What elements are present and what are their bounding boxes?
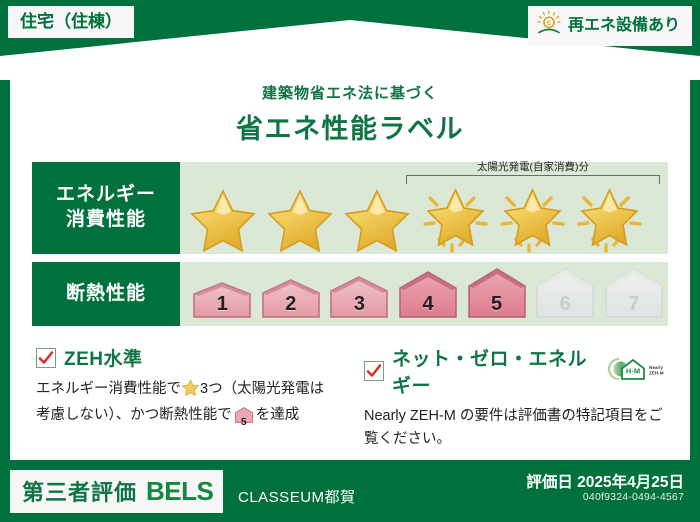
insulation-level-scale: 1 2 xyxy=(180,262,668,326)
bels-plate: 第三者評価 BELS xyxy=(10,470,223,513)
zeh-criteria-title: ZEH水準 xyxy=(64,344,143,371)
insulation-level-1: 1 xyxy=(189,281,255,319)
zeh-m-logo-text: H-M xyxy=(626,366,640,375)
net-zero-criteria-body: Nearly ZEH-M の要件は評価書の特記項目をご覧ください。 xyxy=(364,405,664,451)
zeh-checkbox[interactable] xyxy=(36,348,56,368)
third-party-eval-label: 第三者評価 xyxy=(22,475,137,507)
energy-performance-row: エネルギー 消費性能 太陽光発電(自家消費)分 xyxy=(32,162,668,254)
solar-sun-icon: E xyxy=(536,10,562,41)
nearly-zeh-m-logo-icon: H-M Nearly ZEH-M xyxy=(606,356,664,387)
certificate-id: 040f9324-0494-4567 xyxy=(583,491,684,503)
net-zero-criteria-header: ネット・ゼロ・エネルギー H- xyxy=(364,344,664,398)
insulation-level-3: 3 xyxy=(326,275,392,319)
zeh-body-end: を達成 xyxy=(256,407,300,423)
building-type-tag: 住宅（住棟） xyxy=(8,6,134,38)
title-block: 建築物省エネ法に基づく 省エネ性能ラベル xyxy=(10,82,690,146)
bels-logo-text: BELS xyxy=(146,476,213,507)
insulation-level-value: 4 xyxy=(395,293,461,316)
insulation-level-cell: 7 xyxy=(599,267,668,319)
net-zero-criteria-title: ネット・ゼロ・エネルギー xyxy=(392,344,592,398)
inline-house-badge: 5 xyxy=(234,407,254,431)
page-title: 省エネ性能ラベル xyxy=(10,107,690,146)
svg-text:Nearly: Nearly xyxy=(649,365,663,370)
project-name: CLASSEUM都賀 xyxy=(238,486,356,507)
insulation-level-value: 2 xyxy=(258,293,324,316)
energy-label-card: 住宅（住棟） E 再エネ設備あり 建築 xyxy=(0,0,700,522)
insulation-level-cell: 2 xyxy=(257,278,326,319)
insulation-level-7: 7 xyxy=(601,267,667,319)
eval-date: 評価日 2025年4月25日 xyxy=(526,470,684,492)
eval-date-label: 評価日 xyxy=(526,474,573,491)
energy-performance-label: エネルギー 消費性能 xyxy=(32,162,180,254)
star-item xyxy=(340,182,417,254)
building-type-label: 住宅（住棟） xyxy=(20,12,122,31)
insulation-level-value: 7 xyxy=(601,293,667,316)
insulation-level-cell: 1 xyxy=(188,281,257,319)
net-zero-criteria-block: ネット・ゼロ・エネルギー H- xyxy=(350,344,664,451)
insulation-level-value: 6 xyxy=(532,293,598,316)
svg-text:ZEH-M: ZEH-M xyxy=(649,370,664,375)
star-item-solar xyxy=(417,182,494,254)
insulation-level-6: 6 xyxy=(532,267,598,319)
inline-house-value: 5 xyxy=(234,414,254,431)
insulation-level-value: 3 xyxy=(326,293,392,316)
criteria-section: ZEH水準 エネルギー消費性能で3つ（太陽光発電は考慮しない）、かつ断熱性能で5… xyxy=(36,344,664,451)
footer: 第三者評価 BELS CLASSEUM都賀 評価日 2025年4月25日 040… xyxy=(0,460,700,522)
star-item-solar xyxy=(571,182,648,254)
zeh-body-before-star: エネルギー消費性能で xyxy=(36,381,181,397)
main-content-panel: 建築物省エネ法に基づく 省エネ性能ラベル エネルギー 消費性能 太陽光発電(自家… xyxy=(10,56,690,460)
star-item-solar xyxy=(494,182,571,254)
insulation-performance-label: 断熱性能 xyxy=(32,262,180,326)
zeh-criteria-block: ZEH水準 エネルギー消費性能で3つ（太陽光発電は考慮しない）、かつ断熱性能で5… xyxy=(36,344,336,451)
solar-annotation: 太陽光発電(自家消費)分 xyxy=(406,162,660,184)
insulation-level-cell: 4 xyxy=(394,270,463,319)
insulation-performance-row: 断熱性能 xyxy=(32,262,668,326)
zeh-criteria-header: ZEH水準 xyxy=(36,344,336,371)
insulation-level-cell: 3 xyxy=(325,275,394,319)
insulation-level-5: 5 xyxy=(464,267,530,319)
insulation-level-cell: 6 xyxy=(531,267,600,319)
star-item xyxy=(263,182,340,254)
solar-annotation-label: 太陽光発電(自家消費)分 xyxy=(406,162,660,174)
star-rating xyxy=(180,184,668,252)
eval-date-value: 2025年4月25日 xyxy=(577,474,684,491)
title-subtitle: 建築物省エネ法に基づく xyxy=(10,82,690,103)
insulation-level-4: 4 xyxy=(395,270,461,319)
renewable-badge-label: 再エネ設備あり xyxy=(568,16,680,35)
insulation-level-cell: 5 xyxy=(462,267,531,319)
insulation-level-2: 2 xyxy=(258,278,324,319)
zeh-criteria-body: エネルギー消費性能で3つ（太陽光発電は考慮しない）、かつ断熱性能で5を達成 xyxy=(36,378,336,431)
net-zero-checkbox[interactable] xyxy=(364,361,384,381)
inline-star-icon xyxy=(182,384,199,400)
insulation-performance-body: 1 2 xyxy=(180,262,668,326)
svg-text:E: E xyxy=(547,21,551,27)
insulation-level-value: 5 xyxy=(464,293,530,316)
insulation-level-value: 1 xyxy=(189,293,255,316)
energy-performance-body: 太陽光発電(自家消費)分 xyxy=(180,162,668,254)
renewable-equipment-badge: E 再エネ設備あり xyxy=(528,6,692,46)
star-item xyxy=(186,182,263,254)
